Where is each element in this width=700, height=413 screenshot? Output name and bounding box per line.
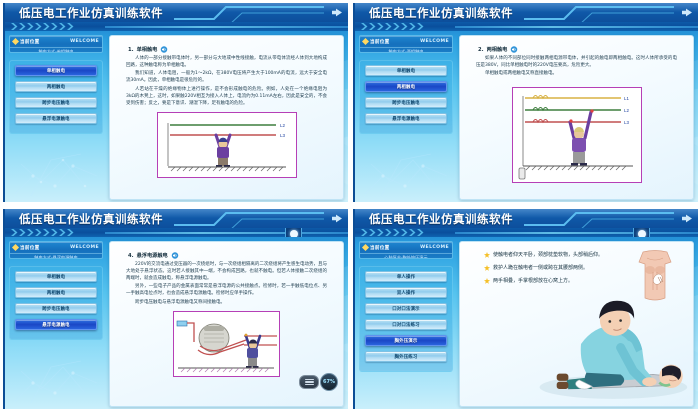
- diamond-icon: [12, 38, 19, 45]
- paragraph-1: 我们知道，人体电阻，一般为1～2kΩ，在380V电压将产生大于100mA的电流，…: [126, 71, 327, 85]
- sidebar-item-3[interactable]: 口对口法练习: [365, 319, 447, 330]
- breadcrumb-position-label: 当前位置: [20, 245, 40, 251]
- sidebar-network-decoration: [361, 146, 451, 198]
- header-status-indicator[interactable]: [285, 228, 302, 237]
- instruction-1: 救护人跪在触电者一侧或跨在其腰部两侧。: [493, 264, 588, 272]
- header-chevron-band: [5, 22, 348, 31]
- welcome-label: WELCOME: [420, 39, 449, 44]
- app-title: 低压电工作业仿真训练软件: [369, 5, 513, 21]
- back-arrow-icon[interactable]: [681, 7, 693, 18]
- speaker-icon[interactable]: [510, 46, 518, 53]
- sidebar-item-1[interactable]: 两相触电: [15, 81, 97, 92]
- sidebar: 当前位置 WELCOME 触电方式-单相触电 单相触电 两相触电 跨步电压触电 …: [9, 35, 103, 200]
- sidebar-item-3[interactable]: 悬浮电源触电: [15, 319, 97, 330]
- sidebar-item-4[interactable]: 胸外压演示: [365, 335, 447, 346]
- sidebar-menu: 单相触电 两相触电 跨步电压触电 悬浮电源触电: [9, 266, 103, 340]
- sidebar-item-1[interactable]: 双人操作: [365, 287, 447, 298]
- band-accent-line: [105, 232, 348, 234]
- speaker-icon[interactable]: [160, 46, 168, 53]
- progress-badge[interactable]: 67%: [320, 373, 338, 391]
- star-icon: [484, 252, 490, 258]
- header-bar: 低压电工作业仿真训练软件: [5, 209, 348, 228]
- band-accent-line: [105, 26, 348, 28]
- sidebar-menu: 单人操作 双人操作 口对口法演示 口对口法练习 胸外压演示 胸外压练习: [359, 266, 453, 372]
- list-item: 使触电者仰天平卧，颈部枕垫软物，头部稍后仰。: [484, 251, 673, 259]
- breadcrumb-position-label: 当前位置: [370, 245, 390, 251]
- figure-two-phase-shock: L1 L2 L3: [512, 87, 642, 183]
- app-body: 当前位置 WELCOME 触电方式-两相触电 单相触电 两相触电 跨步电压触电 …: [355, 31, 698, 202]
- diamond-icon: [362, 38, 369, 45]
- app-window-3: 低压电工作业仿真训练软件: [3, 209, 348, 409]
- paragraph-2: 跨步电压触电与悬浮电源触电又称间接触电。: [126, 300, 327, 307]
- svg-text:L3: L3: [280, 133, 286, 138]
- band-accent-line: [455, 26, 698, 28]
- list-item: 救护人跪在触电者一侧或跨在其腰部两侧。: [484, 264, 673, 272]
- sidebar-item-0[interactable]: 单相触电: [15, 65, 97, 76]
- sidebar-item-5[interactable]: 胸外压练习: [365, 351, 447, 362]
- star-icon: [484, 265, 490, 271]
- section-number: 2.: [478, 47, 484, 53]
- breadcrumb: 当前位置 WELCOME 触电方式-单相触电: [9, 35, 103, 53]
- svg-text:L3: L3: [624, 120, 629, 125]
- welcome-label: WELCOME: [70, 245, 99, 250]
- panel-2: 低压电工作业仿真训练软件: [350, 0, 700, 206]
- band-accent-line: [455, 232, 698, 234]
- cpr-chest-compression-illustration: [527, 283, 689, 402]
- panel-1: 低压电工作业仿真训练软件: [0, 0, 350, 206]
- menu-icon[interactable]: [299, 375, 319, 389]
- breadcrumb-path: 触电方式-悬浮电源触电: [10, 253, 102, 259]
- sidebar: 当前位置 WELCOME 触电方式-悬浮电源触电 单相触电 两相触电 跨步电压触…: [9, 241, 103, 407]
- star-icon: [484, 278, 490, 284]
- breadcrumb-path: 触电方式-两相触电: [360, 47, 452, 53]
- paragraph-1: 单相触电或两相触电又称直接触电。: [476, 71, 677, 78]
- sidebar-item-2[interactable]: 口对口法演示: [365, 303, 447, 314]
- sidebar-item-0[interactable]: 单相触电: [365, 65, 447, 76]
- figure-isolated-supply-shock: [173, 311, 280, 377]
- chevron-pattern-icon: [11, 229, 103, 236]
- header-swoosh-decoration: [174, 209, 324, 228]
- sidebar-network-decoration: [11, 146, 101, 198]
- instruction-2: 两手相叠，手掌根部放在心窝上方。: [493, 277, 573, 285]
- content-card: 2. 两相触电 如果人体的不同部位同时接触两相电源带电体，并引起的触电即两相触电…: [459, 35, 694, 200]
- section-heading: 1. 单相触电: [128, 46, 339, 53]
- paragraph-0: 人体的一部分接触带电体时，另一部分与大地或中性线接触，电流从带电体流经人体到大地…: [126, 56, 327, 70]
- app-window-2: 低压电工作业仿真训练软件: [353, 3, 698, 202]
- paragraph-0: 如果人体的不同部位同时接触两相电源带电体，并引起的触电即两相触电。这时人体所承受…: [476, 56, 677, 70]
- breadcrumb: 当前位置 WELCOME 触电方式-悬浮电源触电: [9, 241, 103, 259]
- app-title: 低压电工作业仿真训练软件: [369, 211, 513, 227]
- sidebar-item-1[interactable]: 两相触电: [15, 287, 97, 298]
- section-title: 单相触电: [137, 46, 158, 53]
- section-number: 4.: [128, 253, 134, 259]
- floating-widget[interactable]: 67%: [299, 373, 338, 391]
- sidebar-menu: 单相触电 两相触电 跨步电压触电 悬浮电源触电: [359, 60, 453, 134]
- section-title: 悬浮电源触电: [137, 252, 168, 259]
- sidebar: 当前位置 WELCOME 触电方式-两相触电 单相触电 两相触电 跨步电压触电 …: [359, 35, 453, 200]
- app-body: 当前位置 WELCOME 心肺复苏-胸外按压演示 单人操作 双人操作 口对口法演…: [355, 237, 698, 409]
- app-title: 低压电工作业仿真训练软件: [19, 5, 163, 21]
- chevron-pattern-icon: [361, 23, 453, 30]
- speaker-icon[interactable]: [171, 252, 179, 259]
- instruction-list: 使触电者仰天平卧，颈部枕垫软物，头部稍后仰。 救护人跪在触电者一侧或跨在其腰部两…: [464, 251, 689, 285]
- content-card: 1. 单相触电 人体的一部分接触带电体时，另一部分与大地或中性线接触，电流从带电…: [109, 35, 344, 200]
- sidebar-menu: 单相触电 两相触电 跨步电压触电 悬浮电源触电: [9, 60, 103, 134]
- paragraph-2: 人若站在干燥的绝缘物体上进行操作，是不会形成触电的危险。例如，人处在一个绝缘电阻…: [126, 87, 327, 108]
- sidebar-item-2[interactable]: 跨步电压触电: [365, 97, 447, 108]
- welcome-label: WELCOME: [420, 245, 449, 250]
- diamond-icon: [12, 244, 19, 251]
- sidebar-item-1[interactable]: 两相触电: [365, 81, 447, 92]
- instruction-0: 使触电者仰天平卧，颈部枕垫软物，头部稍后仰。: [493, 251, 603, 259]
- paragraph-1: 另外，一些电子产品的金属表面常常是悬浮电源的公共接触点。检修时，若一手触低电位点…: [126, 284, 327, 298]
- section-number: 1.: [128, 47, 134, 53]
- sidebar-item-0[interactable]: 单人操作: [365, 271, 447, 282]
- panel-4: 低压电工作业仿真训练软件: [350, 206, 700, 413]
- back-arrow-icon[interactable]: [331, 213, 343, 224]
- app-body: 当前位置 WELCOME 触电方式-悬浮电源触电 单相触电 两相触电 跨步电压触…: [5, 237, 348, 409]
- breadcrumb: 当前位置 WELCOME 触电方式-两相触电: [359, 35, 453, 53]
- sidebar-item-3[interactable]: 悬浮电源触电: [365, 113, 447, 124]
- app-window-4: 低压电工作业仿真训练软件: [353, 209, 698, 409]
- breadcrumb-path: 心肺复苏-胸外按压演示: [360, 253, 452, 259]
- chevron-pattern-icon: [361, 229, 453, 236]
- breadcrumb-path: 触电方式-单相触电: [10, 47, 102, 53]
- header-swoosh-decoration: [524, 209, 674, 228]
- section-heading: 2. 两相触电: [478, 46, 689, 53]
- back-arrow-icon[interactable]: [331, 7, 343, 18]
- list-item: 两手相叠，手掌根部放在心窝上方。: [484, 277, 673, 285]
- section-heading: 4. 悬浮电源触电: [128, 252, 339, 259]
- section-title: 两相触电: [487, 46, 508, 53]
- sidebar: 当前位置 WELCOME 心肺复苏-胸外按压演示 单人操作 双人操作 口对口法演…: [359, 241, 453, 407]
- app-window-1: 低压电工作业仿真训练软件: [3, 3, 348, 202]
- header-status-indicator[interactable]: [633, 228, 650, 237]
- welcome-label: WELCOME: [70, 39, 99, 44]
- app-title: 低压电工作业仿真训练软件: [19, 211, 163, 227]
- sidebar-item-0[interactable]: 单相触电: [15, 271, 97, 282]
- header-chevron-band: [355, 228, 698, 237]
- paragraph-0: 220V的交流电通过变压器的一次绕组时，与一次绕组相隔离的二次绕组将产生感生电动…: [126, 262, 327, 283]
- back-arrow-icon[interactable]: [681, 213, 693, 224]
- figure-single-phase-shock: L2 L3: [157, 112, 297, 178]
- sidebar-item-3[interactable]: 悬浮电源触电: [15, 113, 97, 124]
- header-swoosh-decoration: [524, 3, 674, 22]
- sidebar-item-2[interactable]: 跨步电压触电: [15, 97, 97, 108]
- chevron-pattern-icon: [11, 23, 103, 30]
- screenshot-grid: 低压电工作业仿真训练软件: [0, 0, 700, 413]
- breadcrumb-position-label: 当前位置: [370, 39, 390, 45]
- app-body: 当前位置 WELCOME 触电方式-单相触电 单相触电 两相触电 跨步电压触电 …: [5, 31, 348, 202]
- header-swoosh-decoration: [174, 3, 324, 22]
- svg-text:L2: L2: [624, 108, 629, 113]
- header-chevron-band: [5, 228, 348, 237]
- sidebar-network-decoration: [11, 353, 101, 405]
- content-card: 使触电者仰天平卧，颈部枕垫软物，头部稍后仰。 救护人跪在触电者一侧或跨在其腰部两…: [459, 241, 694, 407]
- header-chevron-band: [355, 22, 698, 31]
- header-bar: 低压电工作业仿真训练软件: [5, 3, 348, 22]
- header-bar: 低压电工作业仿真训练软件: [355, 209, 698, 228]
- sidebar-item-2[interactable]: 跨步电压触电: [15, 303, 97, 314]
- header-bar: 低压电工作业仿真训练软件: [355, 3, 698, 22]
- svg-text:L1: L1: [624, 96, 629, 101]
- breadcrumb-position-label: 当前位置: [20, 39, 40, 45]
- svg-text:L2: L2: [280, 123, 286, 128]
- diamond-icon: [362, 244, 369, 251]
- panel-3: 低压电工作业仿真训练软件: [0, 206, 350, 413]
- breadcrumb: 当前位置 WELCOME 心肺复苏-胸外按压演示: [359, 241, 453, 259]
